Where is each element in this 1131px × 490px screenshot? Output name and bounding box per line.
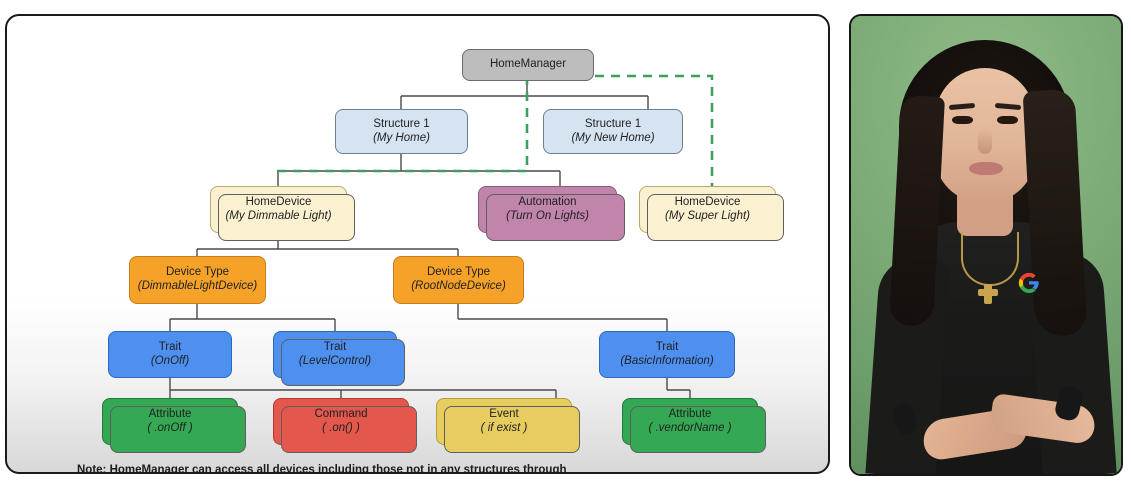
presenter-cross-pendant-bar [978,289,998,296]
node-title: Trait [656,341,679,355]
slide-note: Note: HomeManager can access all devices… [77,464,567,474]
node-title: Command [314,408,367,422]
node-subtitle: (RootNodeDevice) [411,280,506,294]
node-title: Attribute [149,408,192,422]
presenter-video-panel[interactable] [849,14,1123,476]
node-home-device-dimmable[interactable]: HomeDevice (My Dimmable Light) [210,186,347,233]
node-subtitle: (Turn On Lights) [506,210,589,224]
node-title: HomeManager [490,58,566,72]
node-subtitle: (My Dimmable Light) [225,210,331,224]
node-subtitle: (OnOff) [151,355,189,369]
node-title: Trait [324,341,347,355]
presenter-right-eye [997,116,1018,124]
node-title: Device Type [427,266,490,280]
node-title: Attribute [669,408,712,422]
presenter-necklace [961,232,1019,286]
google-g-logo-icon [1018,272,1040,294]
node-device-type-rootnode[interactable]: Device Type (RootNodeDevice) [393,256,524,304]
node-title: Device Type [166,266,229,280]
node-device-type-dimmable[interactable]: Device Type (DimmableLightDevice) [129,256,266,304]
node-title: HomeDevice [246,196,312,210]
presenter-mouth [969,162,1003,175]
node-subtitle: (LevelControl) [299,355,371,369]
node-title: Structure 1 [373,118,429,132]
presenter-left-eye [952,116,973,124]
screen-root: HomeManager Structure 1 (My Home) Struct… [0,0,1131,490]
node-subtitle: ( .onOff ) [147,422,192,436]
node-subtitle: ( if exist ) [481,422,528,436]
node-attribute-vendorname[interactable]: Attribute ( .vendorName ) [622,398,758,445]
node-subtitle: ( .on() ) [322,422,360,436]
node-home-manager[interactable]: HomeManager [462,49,594,81]
node-structure-2[interactable]: Structure 1 (My New Home) [543,109,683,154]
node-trait-onoff[interactable]: Trait (OnOff) [108,331,232,378]
node-event-ifexist[interactable]: Event ( if exist ) [436,398,572,445]
node-title: Automation [518,196,576,210]
node-attribute-onoff[interactable]: Attribute ( .onOff ) [102,398,238,445]
node-title: Structure 1 [585,118,641,132]
node-subtitle: (My Super Light) [665,210,750,224]
node-subtitle: ( .vendorName ) [648,422,731,436]
presenter-nose [978,128,992,154]
node-subtitle: (My New Home) [571,132,654,146]
node-trait-basicinformation[interactable]: Trait (BasicInformation) [599,331,735,378]
node-structure-1[interactable]: Structure 1 (My Home) [335,109,468,154]
node-subtitle: (My Home) [373,132,430,146]
slide-panel: HomeManager Structure 1 (My Home) Struct… [5,14,830,474]
node-trait-levelcontrol[interactable]: Trait (LevelControl) [273,331,397,378]
node-subtitle: (BasicInformation) [620,355,713,369]
node-title: Event [489,408,518,422]
node-automation[interactable]: Automation (Turn On Lights) [478,186,617,233]
node-home-device-super[interactable]: HomeDevice (My Super Light) [639,186,776,233]
node-command-on[interactable]: Command ( .on() ) [273,398,409,445]
node-subtitle: (DimmableLightDevice) [138,280,258,294]
node-title: HomeDevice [675,196,741,210]
node-title: Trait [159,341,182,355]
